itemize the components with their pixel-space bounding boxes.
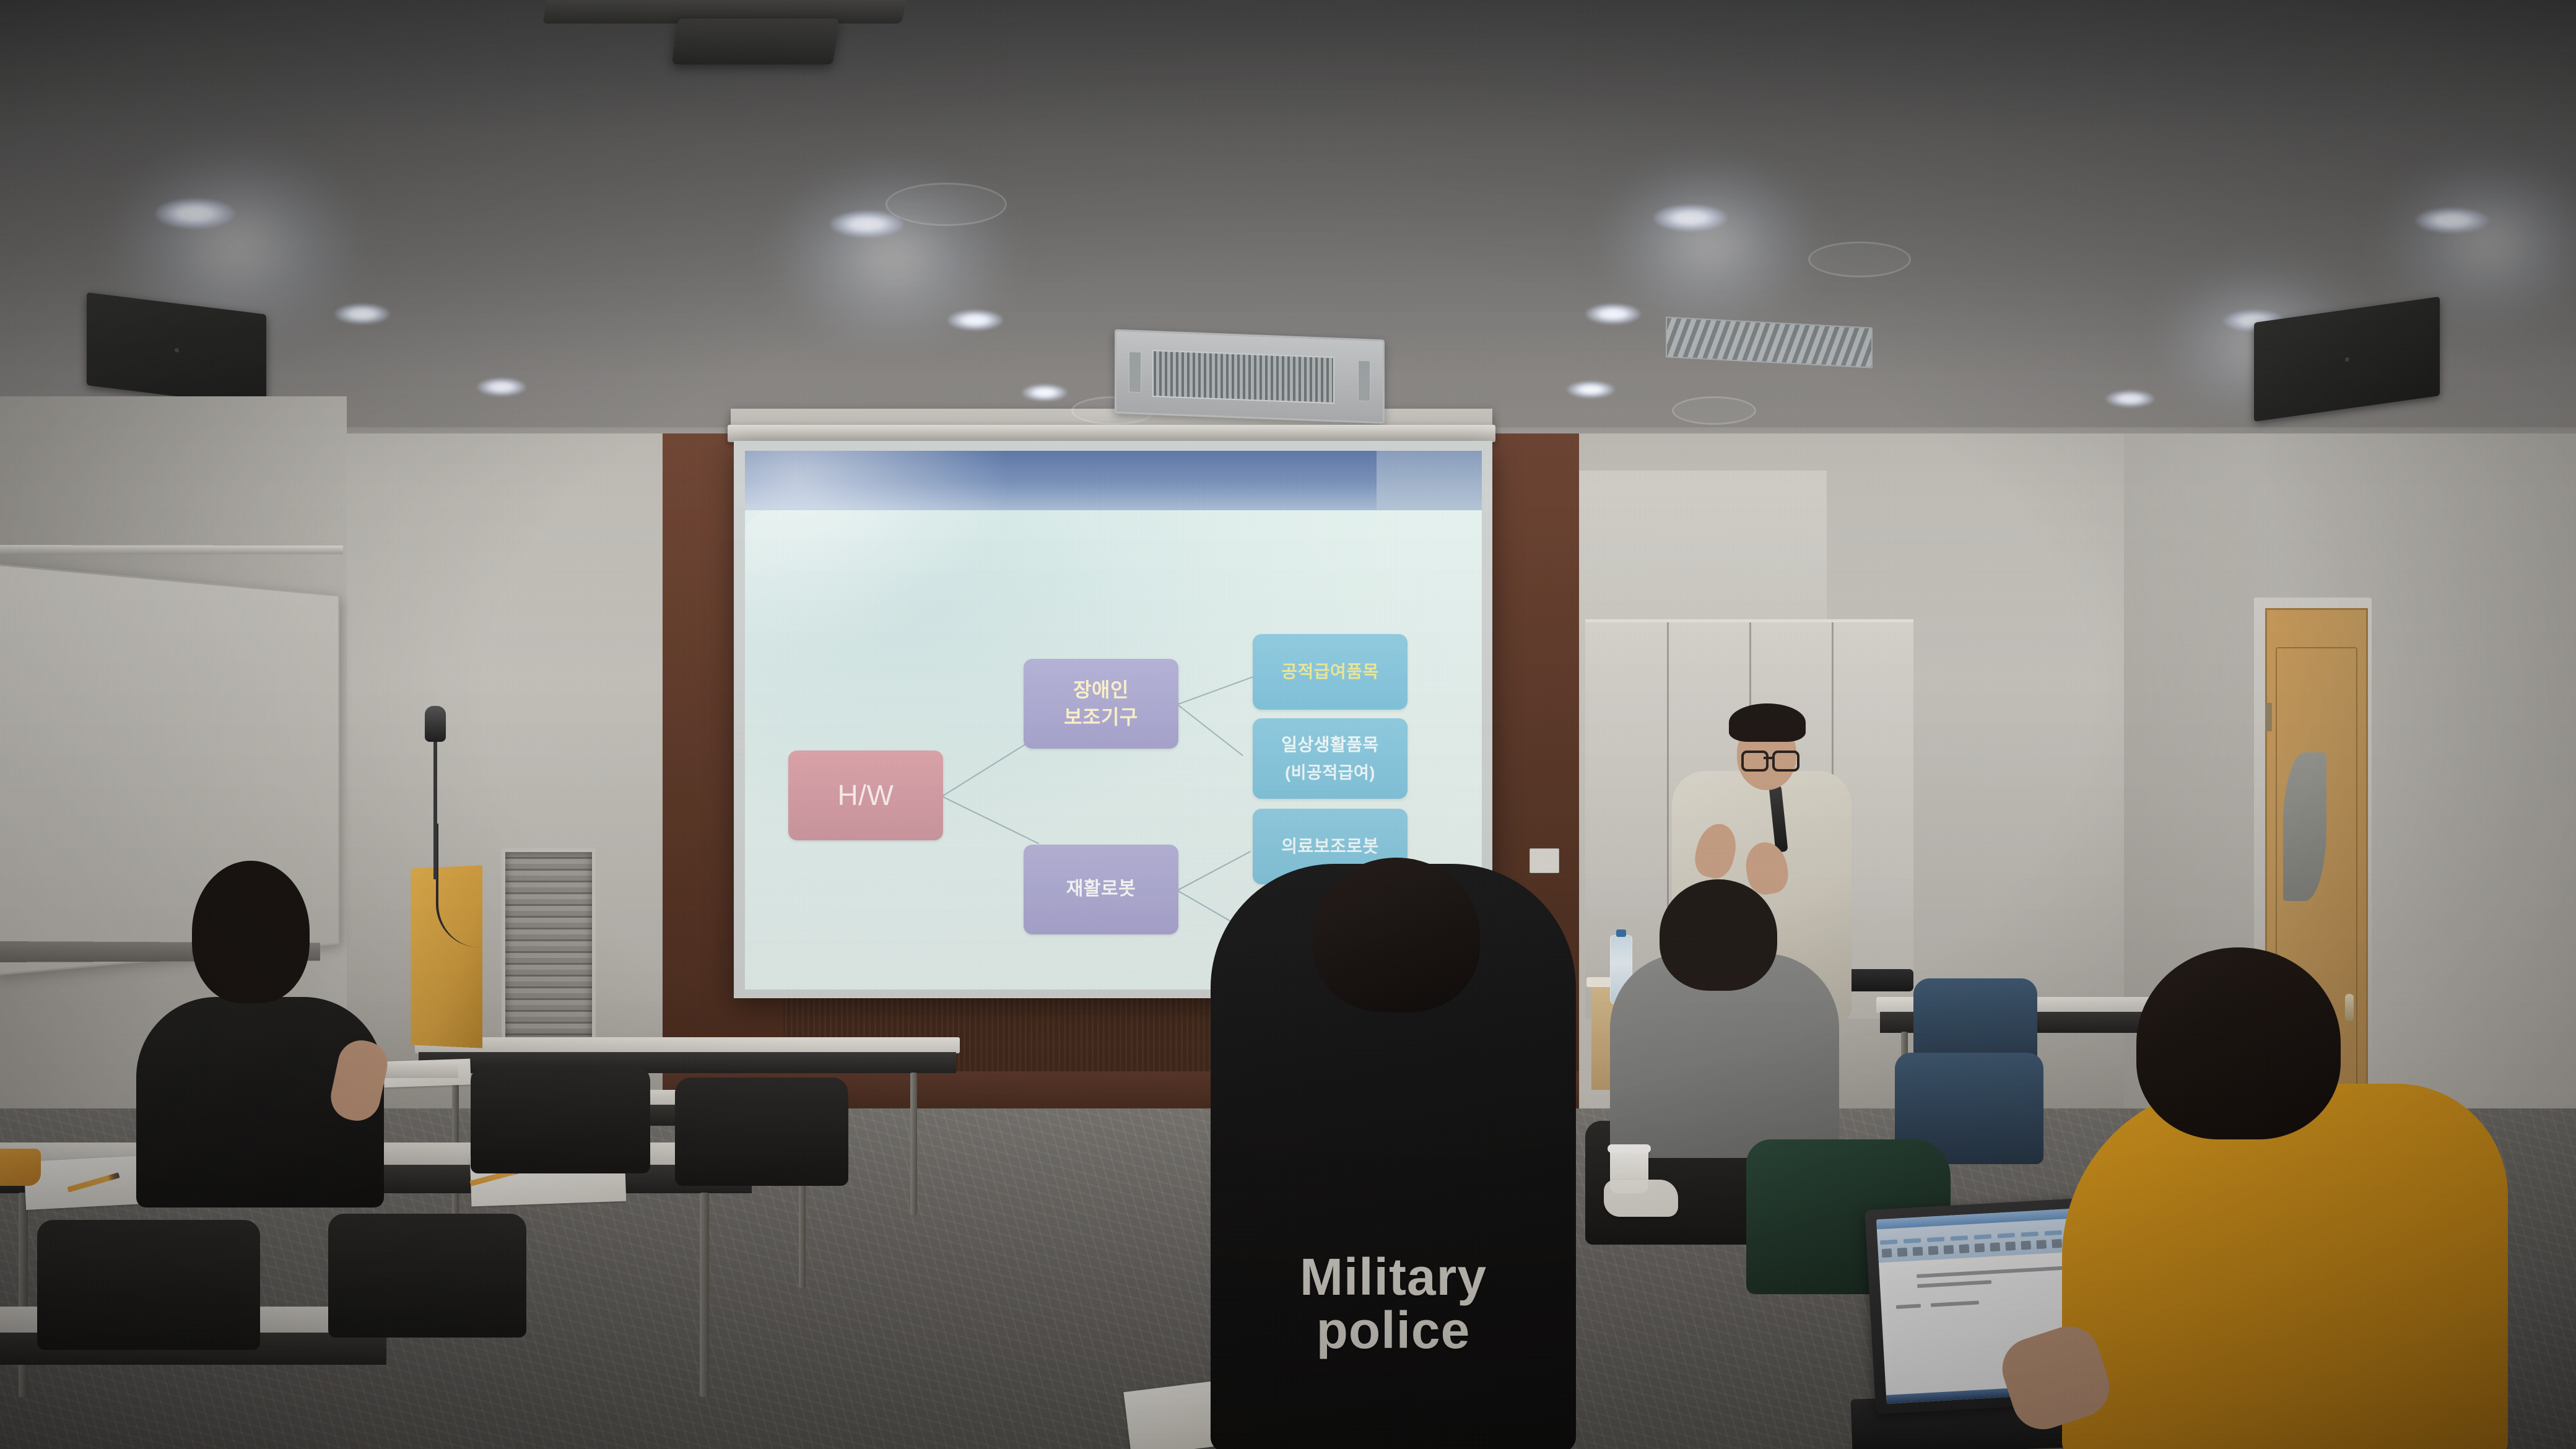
attendee-head (2136, 947, 2341, 1139)
flow-node-leaf-label-line1: 공적급여품목 (1281, 660, 1379, 684)
wall-switch-plate[interactable] (1529, 848, 1559, 873)
ceiling-ring-trim (1672, 396, 1756, 425)
ceiling-light-8 (1585, 303, 1641, 324)
ceiling-ring-trim (885, 183, 1007, 226)
flow-node-branch-label-line1: 장애인 (1073, 677, 1129, 703)
ceiling-light-4 (477, 378, 526, 396)
flow-node-root-label: H/W (838, 776, 894, 814)
orange-bag (0, 1149, 41, 1186)
napkin (1604, 1180, 1678, 1217)
projection-screen-case (728, 425, 1495, 442)
chair[interactable] (328, 1214, 526, 1338)
desk-leg (910, 1073, 917, 1215)
document-text-line (1917, 1280, 1991, 1288)
presenter-hair (1729, 703, 1806, 742)
flow-node-branch-assistive-devices: 장애인 보조기구 (1024, 659, 1178, 749)
eyeglasses-icon (1772, 751, 1799, 772)
ac-vane (1129, 352, 1141, 393)
ceiling-light-11 (2415, 207, 2489, 233)
ceiling-light-5 (947, 310, 1003, 331)
eyeglasses-bridge (1764, 757, 1773, 759)
flow-node-branch-label-line1: 재활로봇 (1066, 877, 1136, 902)
microphone-icon (425, 706, 446, 742)
chair[interactable] (471, 1065, 650, 1173)
projector (672, 19, 839, 64)
jacket-print-line2: police (1211, 1304, 1576, 1357)
lecture-room-photo: H/W 장애인 보조기구 재활로봇 공적급여품목 일상생활품목 (비공적급여) (0, 0, 2576, 1449)
flow-connector (1178, 851, 1251, 890)
wall-louver-vent (502, 848, 596, 1042)
ceiling-light-1 (155, 198, 235, 229)
ceiling-light-7 (1653, 204, 1728, 232)
ceiling-light-3 (334, 303, 390, 324)
ceiling-ring-trim (1808, 241, 1911, 277)
flow-node-branch-rehab-robot: 재활로봇 (1024, 845, 1178, 934)
attendee-head (192, 861, 310, 1003)
slide-top-band (745, 451, 1377, 510)
flow-connector (942, 739, 1033, 796)
ac-vane (1358, 360, 1370, 402)
whiteboard-rail (0, 545, 343, 555)
door-glass-panel (2283, 752, 2326, 901)
attendee-head (1313, 858, 1480, 1012)
door-hinge (2266, 703, 2272, 731)
flow-node-leaf-daily-living-items: 일상생활품목 (비공적급여) (1253, 718, 1408, 799)
document-text-line (1896, 1304, 1921, 1309)
flow-node-leaf-label-line2: (비공적급여) (1285, 762, 1375, 784)
document-text-line (1931, 1300, 1979, 1307)
ceiling-light-12 (2105, 390, 2155, 407)
eyeglasses-icon (1741, 751, 1769, 772)
flow-node-leaf-public-benefit-items: 공적급여품목 (1253, 634, 1408, 710)
ac-grille-icon (1152, 350, 1334, 404)
flow-connector (1178, 676, 1256, 705)
flow-connector (1178, 705, 1243, 756)
ceiling-light-9 (1567, 381, 1615, 398)
chair[interactable] (37, 1220, 260, 1350)
document-text-line (1917, 1266, 2071, 1278)
yellow-shirt-torso (2062, 1084, 2508, 1449)
flow-node-branch-label-line2: 보조기구 (1064, 704, 1138, 731)
door-handle-icon[interactable] (2345, 994, 2354, 1021)
jacket-print-line1: Military (1211, 1251, 1576, 1304)
desk-leg (700, 1193, 709, 1397)
notebook (384, 1062, 458, 1078)
jacket-print-text: Military police (1211, 1251, 1576, 1357)
flow-node-leaf-label-line1: 일상생활품목 (1281, 733, 1379, 757)
microphone-stand (433, 724, 437, 879)
flow-node-root: H/W (788, 751, 943, 840)
chair[interactable] (675, 1077, 848, 1186)
desk-leg (19, 1193, 28, 1397)
flow-node-leaf-label-line1: 의료보조로봇 (1281, 835, 1379, 858)
ceiling-light-6 (1022, 384, 1068, 401)
attendee-head (1660, 879, 1777, 991)
ceiling-ac-unit (1115, 329, 1385, 424)
flow-connector (943, 796, 1039, 844)
